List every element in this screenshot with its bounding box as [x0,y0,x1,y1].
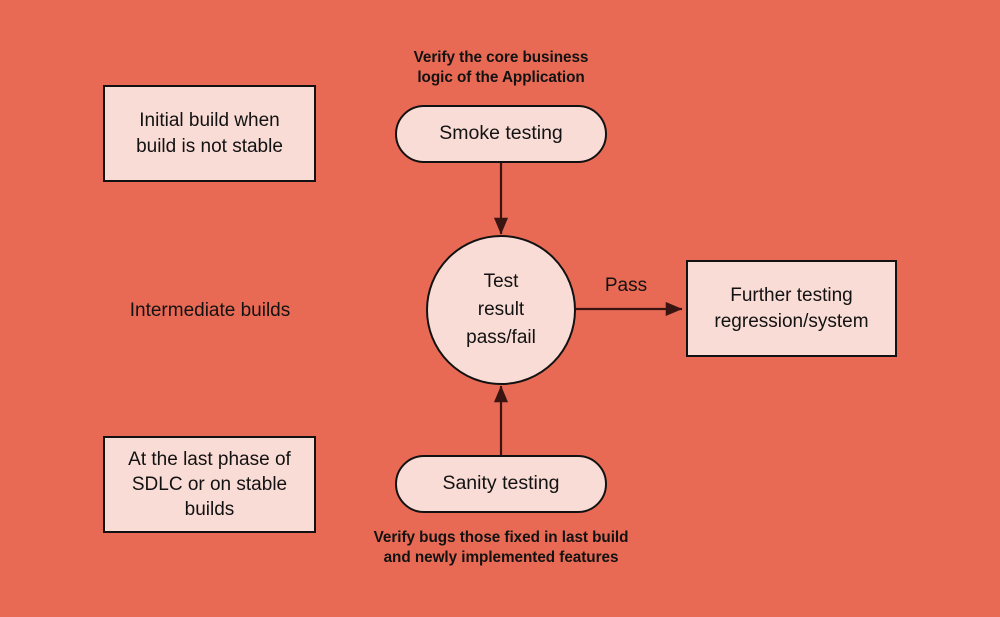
caption-sanity-testing: Verify bugs those fixed in last build an… [340,528,662,569]
diagram-canvas: Initial build when build is not stable V… [0,0,1000,617]
node-smoke-testing[interactable]: Smoke testing [395,105,607,163]
edge-label-pass: Pass [586,273,666,298]
node-further-testing[interactable]: Further testing regression/system [686,260,897,357]
caption-smoke-testing: Verify the core business logic of the Ap… [370,48,632,89]
node-test-result[interactable]: Test result pass/fail [426,235,576,385]
node-sanity-testing[interactable]: Sanity testing [395,455,607,513]
node-initial-build-box[interactable]: Initial build when build is not stable [103,85,316,182]
node-last-phase-box[interactable]: At the last phase of SDLC or on stable b… [103,436,316,533]
label-intermediate-builds: Intermediate builds [80,298,340,323]
